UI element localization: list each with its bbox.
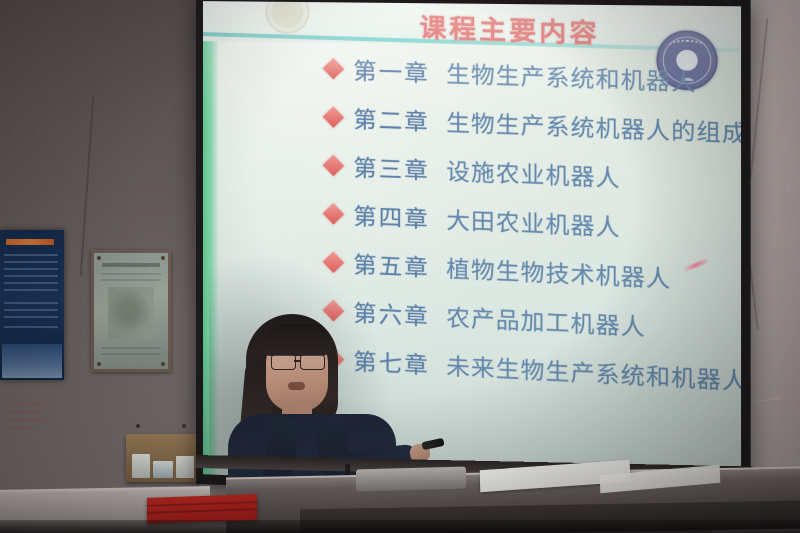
- shelf-item: [153, 461, 173, 478]
- chapter-title: 植物生物技术机器人: [446, 250, 671, 295]
- chapter-label: 第一章: [353, 52, 430, 89]
- presenter-mouth: [288, 382, 305, 390]
- foreground-shadow: [0, 520, 800, 533]
- diamond-bullet-icon: [323, 203, 345, 224]
- chapter-label: 第五章: [353, 245, 430, 283]
- poster-heading-band: [6, 239, 54, 245]
- chapter-title: 大田农业机器人: [446, 201, 620, 243]
- wooden-shelf: [126, 434, 200, 482]
- diamond-bullet-icon: [323, 154, 345, 175]
- classroom-photo: 课程主要内容 第一章 生物生产系统和机器人 第二章: [0, 0, 800, 533]
- shelf-item: [132, 454, 150, 478]
- framed-certificate: [91, 250, 171, 372]
- chapter-label: 第二章: [353, 100, 430, 137]
- diamond-bullet-icon: [323, 58, 345, 79]
- chapter-label: 第四章: [353, 197, 430, 235]
- desk-tray: [356, 467, 466, 492]
- chapter-title: 生物生产系统机器人的组成: [446, 103, 741, 149]
- diamond-bullet-icon: [323, 251, 345, 272]
- chapter-label: 第三章: [353, 149, 430, 186]
- slide-title: 课程主要内容: [420, 7, 600, 50]
- diamond-bullet-icon: [323, 106, 345, 127]
- shelf-item: [176, 456, 194, 478]
- chapter-title: 生物生产系统和机器人: [446, 55, 696, 98]
- wall-writing: [4, 398, 56, 454]
- glasses-icon: [269, 354, 327, 369]
- chapter-title: 未来生物生产系统和机器人: [446, 347, 741, 397]
- poster-photo: [2, 344, 62, 378]
- presenter-fringe: [262, 324, 332, 356]
- certificate-illustration: [108, 287, 154, 339]
- shelf-screws: [126, 424, 200, 429]
- chapter-title: 设施农业机器人: [446, 152, 620, 193]
- chapter-title: 农产品加工机器人: [446, 298, 646, 342]
- blue-wall-poster: [0, 230, 64, 380]
